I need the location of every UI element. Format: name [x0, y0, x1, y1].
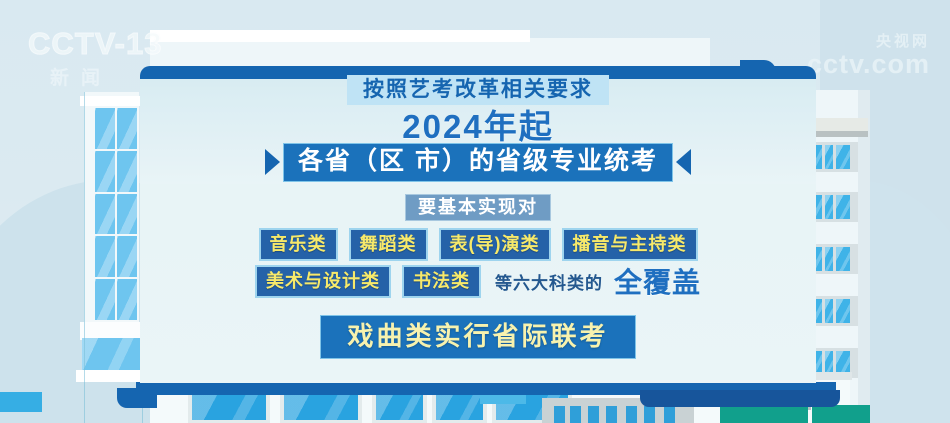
window-pane: [117, 151, 137, 192]
edge-line-left: [84, 92, 85, 423]
suffix-emphasis: 全覆盖: [614, 261, 701, 301]
window-pane: [836, 247, 850, 271]
window-pane: [836, 145, 850, 169]
building-tower-left-windows: [95, 108, 137, 320]
window-pane: [570, 406, 581, 423]
window-pane: [554, 406, 565, 423]
window-pane: [588, 406, 599, 423]
window-pane: [376, 392, 423, 420]
category-tag: 表(导)演类: [439, 228, 551, 261]
background-block-center-top: [150, 30, 530, 42]
window-pane: [117, 194, 137, 235]
year-heading: 2024年起: [140, 108, 816, 146]
infographic-card: 按照艺考改革相关要求 2024年起 各省（区 市）的省级专业统考 要基本实现对 …: [140, 66, 816, 383]
window-pane: [825, 299, 833, 323]
category-tag: 播音与主持类: [562, 228, 698, 261]
arrow-right-icon: [265, 149, 280, 175]
sub-label-row: 要基本实现对: [140, 192, 816, 222]
window-pane: [644, 406, 655, 423]
window-pane: [436, 392, 483, 420]
kicker-text: 按照艺考改革相关要求: [347, 75, 609, 105]
category-tag: 舞蹈类: [349, 228, 428, 261]
scope-banner-text: 各省（区 市）的省级专业统考: [283, 143, 673, 182]
window-pane: [117, 108, 137, 149]
window-pane: [95, 194, 115, 235]
blue-corner-nub: [117, 388, 157, 408]
blue-ground-strip-secondary: [640, 390, 840, 407]
sub-label-text: 要基本实现对: [405, 194, 551, 221]
category-tag-row-1: 音乐类 舞蹈类 表(导)演类 播音与主持类: [140, 228, 816, 260]
background-block-center: [150, 38, 710, 68]
kicker-row: 按照艺考改革相关要求: [140, 74, 816, 106]
teal-block-left: [720, 405, 808, 423]
arrow-left-icon: [676, 149, 691, 175]
scope-banner-row: 各省（区 市）的省级专业统考: [140, 142, 816, 182]
category-tag: 书法类: [402, 265, 481, 298]
suffix-label: 等六大科类的: [495, 269, 603, 294]
building-tower-left-sill: [76, 370, 146, 382]
window-pane: [825, 145, 833, 169]
window-pane: [117, 236, 137, 277]
window-pane: [825, 195, 833, 219]
window-pane: [95, 108, 115, 149]
window-pane: [664, 406, 675, 423]
cyan-block-bottom-left: [0, 392, 42, 412]
window-pane: [836, 299, 850, 323]
building-tower-left-cap: [80, 96, 143, 106]
window-pane: [95, 151, 115, 192]
teal-block-right: [812, 405, 870, 423]
window-pane: [626, 406, 637, 423]
window-pane: [95, 279, 115, 320]
building-right-shadow: [858, 90, 870, 423]
infographic-content: 按照艺考改革相关要求 2024年起 各省（区 市）的省级专业统考 要基本实现对 …: [140, 66, 816, 383]
bottom-banner-row: 戏曲类实行省际联考: [140, 314, 816, 360]
category-tag-row-2: 美术与设计类 书法类 等六大科类的 全覆盖: [140, 264, 816, 298]
window-pane: [284, 392, 358, 420]
category-tag: 音乐类: [259, 228, 338, 261]
window-pane: [117, 279, 137, 320]
bottom-banner-text: 戏曲类实行省际联考: [320, 315, 635, 359]
window-pane: [825, 247, 833, 271]
category-tag: 美术与设计类: [255, 265, 391, 298]
window-pane: [192, 392, 266, 420]
window-pane: [606, 406, 617, 423]
window-pane: [95, 236, 115, 277]
window-pane: [836, 195, 850, 219]
building-tower-left-lower-window: [82, 338, 140, 372]
